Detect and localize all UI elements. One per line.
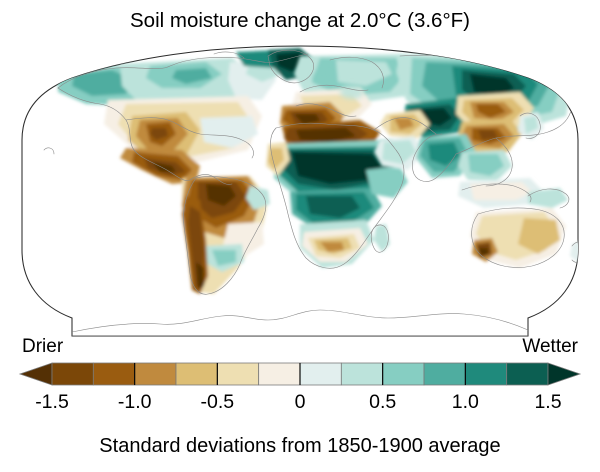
- colorbar-segment[interactable]: [341, 363, 382, 385]
- colorbar-low-label: Drier: [22, 336, 64, 357]
- colorbar-segment[interactable]: [217, 363, 258, 385]
- colorbar-high-label: Wetter: [522, 336, 578, 357]
- colorbar-segment[interactable]: [383, 363, 424, 385]
- colorbar-tick-label: 0.5: [369, 391, 396, 413]
- colorbar-tick-label: -1.5: [35, 391, 69, 413]
- colorbar-tick-label: -1.0: [118, 391, 152, 413]
- colorbar-tick-label: 0: [295, 391, 306, 413]
- colorbar-segment[interactable]: [52, 363, 93, 385]
- colorbar-tick-label: 1.5: [534, 391, 561, 413]
- colorbar-caption: Standard deviations from 1850-1900 avera…: [99, 435, 500, 457]
- colorbar-tick-label: -0.5: [201, 391, 235, 413]
- colorbar-segment[interactable]: [300, 363, 341, 385]
- colorbar-segment[interactable]: [176, 363, 217, 385]
- colorbar-segment[interactable]: [259, 363, 300, 385]
- world-map: [22, 46, 590, 336]
- page-title: Soil moisture change at 2.0°C (3.6°F): [130, 9, 470, 32]
- colorbar-segment[interactable]: [465, 363, 506, 385]
- colorbar-tick-label: 1.0: [452, 391, 479, 413]
- colorbar-segment[interactable]: [424, 363, 465, 385]
- soil-moisture-figure: Soil moisture change at 2.0°C (3.6°F): [0, 0, 600, 472]
- colorbar-segment[interactable]: [135, 363, 176, 385]
- colorbar-segment[interactable]: [507, 363, 548, 385]
- colorbar-segment[interactable]: [93, 363, 134, 385]
